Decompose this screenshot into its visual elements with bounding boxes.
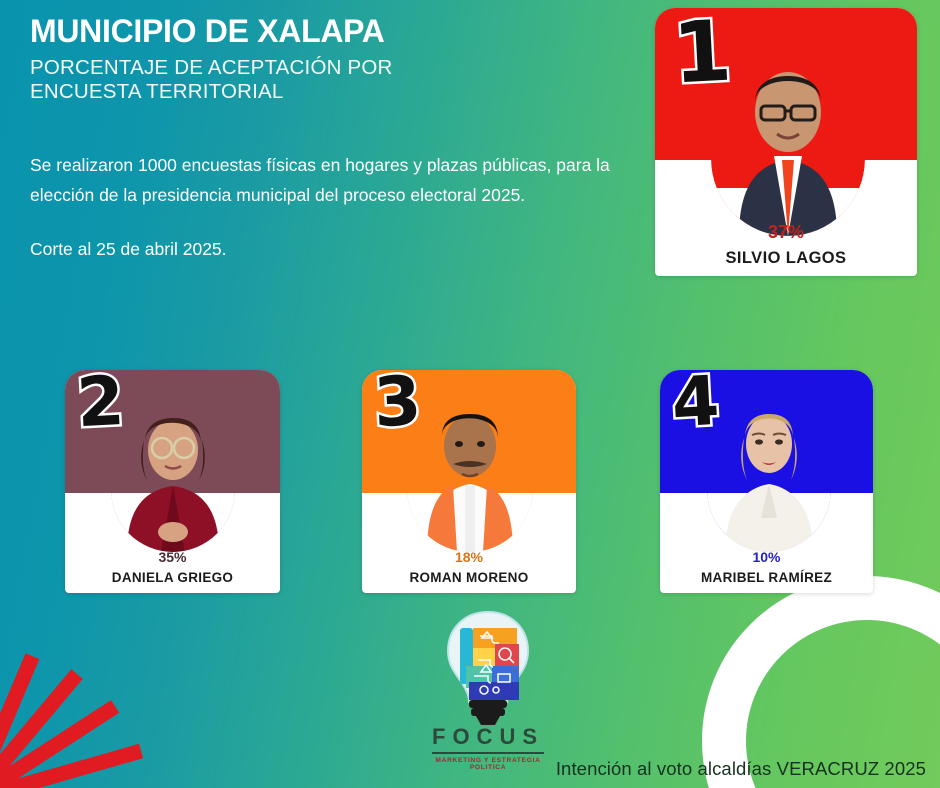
subtitle-line-2: ENCUESTA TERRITORIAL: [30, 80, 650, 104]
rank-number-4: 4: [670, 371, 721, 436]
candidate-card-4[interactable]: 4: [660, 370, 873, 593]
page-title: MUNICIPIO DE XALAPA: [30, 14, 650, 50]
logo-wordmark: FOCUS: [432, 724, 544, 754]
white-arc-decoration: [702, 576, 940, 788]
candidate-name: DANIELA GRIEGO: [65, 571, 280, 585]
candidate-name: SILVIO LAGOS: [655, 250, 917, 267]
focus-logo: FOCUS MARKETING Y ESTRATEGIA POLITICA: [428, 608, 548, 771]
subtitle-line-1: PORCENTAJE DE ACEPTACIÓN POR: [30, 56, 650, 80]
methodology-paragraph: Se realizaron 1000 encuestas físicas en …: [30, 150, 638, 210]
percentage-value: 37%: [655, 223, 917, 241]
card-footer: 35% DANIELA GRIEGO: [65, 550, 280, 585]
percentage-value: 18%: [362, 550, 576, 564]
card-footer: 18% ROMAN MORENO: [362, 550, 576, 585]
candidate-name: MARIBEL RAMÍREZ: [660, 571, 873, 585]
poster-header: MUNICIPIO DE XALAPA PORCENTAJE DE ACEPTA…: [30, 14, 650, 104]
candidate-name: ROMAN MORENO: [362, 571, 576, 585]
footer-note: Intención al voto alcaldías VERACRUZ 202…: [556, 758, 926, 780]
candidate-photo-maribel-ramirez: [707, 388, 831, 552]
red-rays-decoration: [0, 614, 192, 788]
candidate-card-2[interactable]: 2: [65, 370, 280, 593]
logo-tagline: MARKETING Y ESTRATEGIA POLITICA: [428, 757, 548, 771]
text-spacer: [30, 210, 638, 234]
candidate-photo-silvio-lagos: [711, 36, 865, 236]
card-footer: 10% MARIBEL RAMÍREZ: [660, 550, 873, 585]
rank-number-3: 3: [372, 371, 423, 436]
percentage-value: 10%: [660, 550, 873, 564]
candidate-photo-daniela-griego: [111, 394, 235, 552]
rank-number-2: 2: [75, 371, 126, 436]
percentage-value: 35%: [65, 550, 280, 564]
candidate-photo-roman-moreno: [407, 390, 533, 552]
infographic-poster: MUNICIPIO DE XALAPA PORCENTAJE DE ACEPTA…: [0, 0, 940, 788]
card-footer: 37% SILVIO LAGOS: [655, 223, 917, 267]
candidate-card-3[interactable]: 3: [362, 370, 576, 593]
rank-number-1: 1: [671, 13, 733, 93]
cutoff-date-text: Corte al 25 de abril 2025.: [30, 234, 638, 264]
candidate-card-1[interactable]: 1 37%: [655, 8, 917, 276]
page-subtitle: PORCENTAJE DE ACEPTACIÓN POR ENCUESTA TE…: [30, 56, 650, 104]
methodology-text: Se realizaron 1000 encuestas físicas en …: [30, 150, 638, 264]
lightbulb-puzzle-icon: [436, 608, 540, 726]
